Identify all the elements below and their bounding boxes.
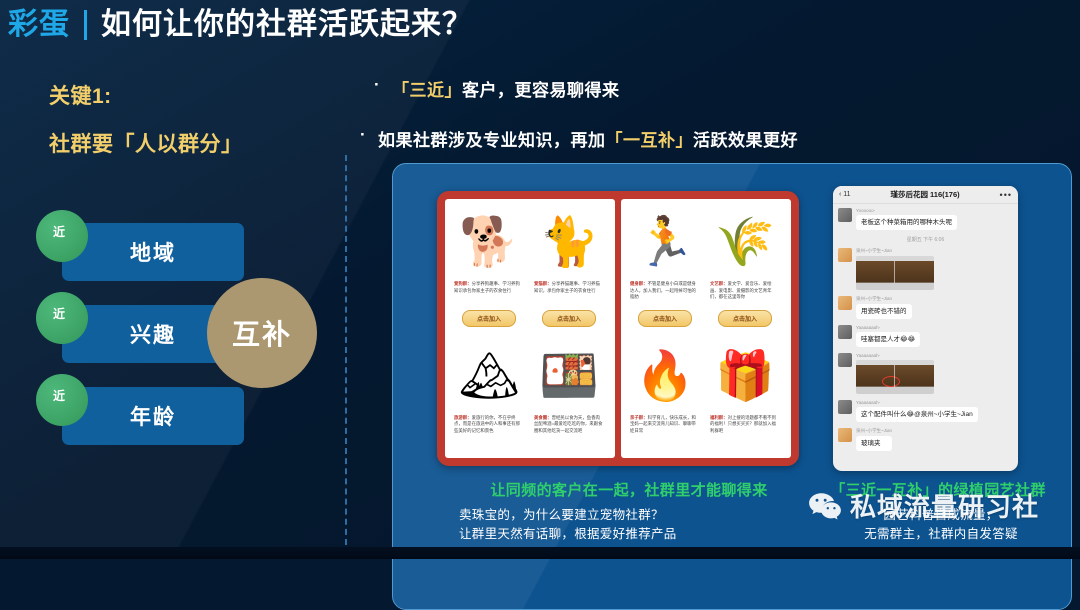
bullet-highlight-2: 「一互补」 [606,131,694,150]
more-options-icon[interactable]: ••• [1000,190,1012,200]
chat-message-list[interactable]: Yoooooo- 老板这个种菜箱用的哪种木头呢 星期五 下午 6:06 泉州~小… [833,204,1018,461]
media-panel: 🐕 爱狗群：分享养狗趣事、学习养狗知识承包你家主子的衣食住行 点击加入 🐈 爱猫… [392,163,1072,610]
chat-bubble: 这个配件叫什么😂@泉州~小学生~Jian [856,407,978,422]
near-bar-age-label: 年龄 [130,401,176,431]
join-button[interactable]: 点击加入 [718,310,772,327]
near-bar-region[interactable]: 地域 [62,223,244,281]
plant-icon: 🌾 [707,207,783,279]
near-bar-age[interactable]: 年龄 [62,387,244,445]
chat-nickname: Yoooooo- [856,208,957,213]
chat-bubble: 哇塞都是人才😂😂 [856,332,920,347]
near-badge-interest-label: 近 [53,305,65,322]
group-card[interactable]: 🎁 福利群：对上搜的话题都不看不到的福利！只想买买买？那就加入福利群吧 [707,341,783,451]
avatar [838,208,852,222]
near-badge-region-label: 近 [53,223,65,240]
group-card-title: 旅游群： [454,415,472,420]
bullet-text-1: 「三近」客户，更容易聊得来 [392,76,620,101]
back-badge-count: 11 [843,191,850,198]
group-card-title: 文艺群： [710,281,728,286]
caption-right-green: 「三近一互补」的绿植园艺社群 [813,479,1063,500]
group-card-title: 亲子群： [630,415,648,420]
chat-nickname: Yaaaaaaah- [856,353,934,358]
bullet-pre-2: 如果社群涉及专业知识，再加 [378,131,606,150]
chat-nickname: 泉州~小学生~Jian [856,428,892,434]
chat-nickname: 泉州~小学生~Jian [856,296,912,302]
avatar [838,296,852,310]
chat-message: 泉州~小学生~Jian [838,248,1013,290]
flame-icon: 🔥 [627,341,703,413]
caption-left-line1: 卖珠宝的，为什么要建立宠物社群？ [459,506,819,525]
chat-nickname: 泉州~小学生~Jian [856,248,934,254]
avatar [838,353,852,367]
back-icon[interactable]: ‹ 11 [839,191,851,198]
near-bar-interest-label: 兴趣 [130,319,176,349]
near-badge-region: 近 [36,210,88,262]
caption-left-green: 让同频的客户在一起，社群里才能聊得来 [459,479,799,500]
bullet-post-1: 客户，更容易聊得来 [462,81,620,100]
group-card-desc: 爱猫群：分享养猫趣事、学习养猫知识，承包你家主子的衣食住行 [531,281,607,307]
chat-message: Yaaaaaaah- 这个配件叫什么😂@泉州~小学生~Jian [838,400,1013,422]
group-card[interactable]: 🔥 亲子群：科学育儿，快乐成长，和宝妈一起来交流育儿知识、聊聊带娃日常 [627,341,703,451]
group-card[interactable]: 🐈 爱猫群：分享养猫趣事、学习养猫知识，承包你家主子的衣食住行 点击加入 [531,207,607,337]
runner-icon: 🏃 [627,207,703,279]
group-poster-mock: 🐕 爱狗群：分享养狗趣事、学习养狗知识承包你家主子的衣食住行 点击加入 🐈 爱猫… [437,191,799,466]
left-column: 关键1: 社群要「人以群分」 地域 兴趣 年龄 近 近 近 互补 [0,60,345,559]
slide-header: 彩蛋 如何让你的社群活跃起来？ [8,2,473,48]
header-separator-bar [84,10,87,40]
bullet-post-2: 活跃效果更好 [693,131,798,150]
group-card[interactable]: 🐕 爱狗群：分享养狗趣事、学习养狗知识承包你家主子的衣食住行 点击加入 [451,207,527,337]
bullet-list: · 「三近」客户，更容易聊得来 · 如果社群涉及专业知识，再加「一互补」活跃效果… [360,68,1070,151]
chat-message: 泉州~小学生~Jian 用瓷砖也不错的 [838,296,1013,319]
group-card-title: 健身群： [630,281,648,286]
chat-message: Yaaaaaaah- [838,353,1013,394]
cat-icon: 🐈 [531,207,607,279]
poster-left-page: 🐕 爱狗群：分享养狗趣事、学习养狗知识承包你家主子的衣食住行 点击加入 🐈 爱猫… [445,199,615,458]
group-card-desc: 爱狗群：分享养狗趣事、学习养狗知识承包你家主子的衣食住行 [451,281,527,307]
avatar [838,400,852,414]
chat-message: 泉州~小学生~Jian 玻璃夹 [838,428,1013,451]
dog-icon: 🐕 [451,207,527,279]
bullet-marker-icon: · [374,76,392,95]
chat-header: ‹ 11 瑾莎后花园 116(176) ••• [833,186,1018,204]
group-card-desc: 福利群：对上搜的话题都不看不到的福利！只想买买买？那就加入福利群吧 [707,415,783,441]
avatar [838,325,852,339]
group-card-desc: 健身群：不管是健身小白或是健身达人，加入我们，一起甩掉可怕的脂肪 [627,281,703,307]
bullet-text-2: 如果社群涉及专业知识，再加「一互补」活跃效果更好 [378,126,798,151]
near-badge-age-label: 近 [53,387,65,404]
chat-photo[interactable] [856,256,934,290]
header-tag: 彩蛋 [8,10,70,40]
join-button[interactable]: 点击加入 [542,310,596,327]
group-card[interactable]: 🌾 文艺群：爱文学、爱音乐、爱绘画、爱电影、爱摄影的文艺青年们，都在这里等你 点… [707,207,783,337]
group-card-title: 美食圈： [534,415,552,420]
caption-right-white: 园艺科普自成流量， 无需群主，社群内自发答疑 [821,506,1061,545]
chat-bubble: 用瓷砖也不错的 [856,304,912,319]
poster-right-page: 🏃 健身群：不管是健身小白或是健身达人，加入我们，一起甩掉可怕的脂肪 点击加入 … [621,199,791,458]
join-button[interactable]: 点击加入 [462,310,516,327]
near-badge-interest: 近 [36,292,88,344]
caption-left-white: 卖珠宝的，为什么要建立宠物社群？ 让群里天然有话聊，根据爱好推荐产品 [459,506,819,545]
near-bar-region-label: 地域 [130,237,176,267]
near-badge-age: 近 [36,374,88,426]
avatar [838,428,852,442]
avatar [838,248,852,262]
chat-nickname: Yaaaaaaah- [856,325,920,330]
chat-message: Yaaaaaaah- 哇塞都是人才😂😂 [838,325,1013,347]
group-card-title: 爱猫群： [534,281,552,286]
complement-circle: 互补 [207,278,317,388]
group-card[interactable]: 🏃 健身群：不管是健身小白或是健身达人，加入我们，一起甩掉可怕的脂肪 点击加入 [627,207,703,337]
caption-right-line2: 无需群主，社群内自发答疑 [821,525,1061,544]
chat-photo[interactable] [856,360,934,394]
group-card[interactable]: 🏔 旅游群：爱旅行的你，不在乎终点，而是在旅途中的人和事还有那些美好的记忆和景色 [451,341,527,451]
group-card[interactable]: 🍱 美食圈：曾经民以食为天，鱼香肉丝配啤酒=最爱吃吃吃的你，来跟食圈和其他吃货一… [531,341,607,451]
group-card-desc: 亲子群：科学育儿，快乐成长，和宝妈一起来交流育儿知识、聊聊带娃日常 [627,415,703,441]
group-card-title: 爱狗群： [454,281,472,286]
bullet-marker-icon: · [360,126,378,145]
caption-left-line2: 让群里天然有话聊，根据爱好推荐产品 [459,525,819,544]
chat-nickname: Yaaaaaaah- [856,400,978,405]
group-card-desc: 旅游群：爱旅行的你，不在乎终点，而是在旅途中的人和事还有那些美好的记忆和景色 [451,415,527,441]
chat-message: Yoooooo- 老板这个种菜箱用的哪种木头呢 [838,208,1013,230]
chat-title: 瑾莎后花园 116(176) [890,189,959,200]
three-near-diagram: 地域 兴趣 年龄 近 近 近 互补 [0,60,345,559]
group-card-desc: 文艺群：爱文学、爱音乐、爱绘画、爱电影、爱摄影的文艺青年们，都在这里等你 [707,281,783,307]
gift-icon: 🎁 [707,341,783,413]
chat-bubble: 老板这个种菜箱用的哪种木头呢 [856,215,957,230]
slide-root: 彩蛋 如何让你的社群活跃起来？ 关键1: 社群要「人以群分」 地域 兴趣 年龄 … [0,0,1080,559]
bullet-item-2: · 如果社群涉及专业知识，再加「一互补」活跃效果更好 [360,126,1070,151]
page-title: 如何让你的社群活跃起来？ [101,10,473,40]
chat-timestamp: 星期五 下午 6:06 [838,236,1013,243]
wechat-chat-mock: ‹ 11 瑾莎后花园 116(176) ••• Yoooooo- 老板这个种菜箱… [833,186,1018,471]
food-icon: 🍱 [531,341,607,413]
right-column: · 「三近」客户，更容易聊得来 · 如果社群涉及专业知识，再加「一互补」活跃效果… [345,60,1080,559]
join-button[interactable]: 点击加入 [638,310,692,327]
bullet-highlight-1: 「三近」 [392,81,462,100]
caption-right-line1: 园艺科普自成流量， [821,506,1061,525]
mountain-icon: 🏔 [451,341,527,413]
group-card-desc: 美食圈：曾经民以食为天，鱼香肉丝配啤酒=最爱吃吃吃的你，来跟食圈和其他吃货一起交… [531,415,607,441]
chat-bubble: 玻璃夹 [856,436,892,451]
complement-circle-label: 互补 [232,313,292,353]
bullet-item-1: · 「三近」客户，更容易聊得来 [374,76,1070,101]
group-card-title: 福利群： [710,415,728,420]
